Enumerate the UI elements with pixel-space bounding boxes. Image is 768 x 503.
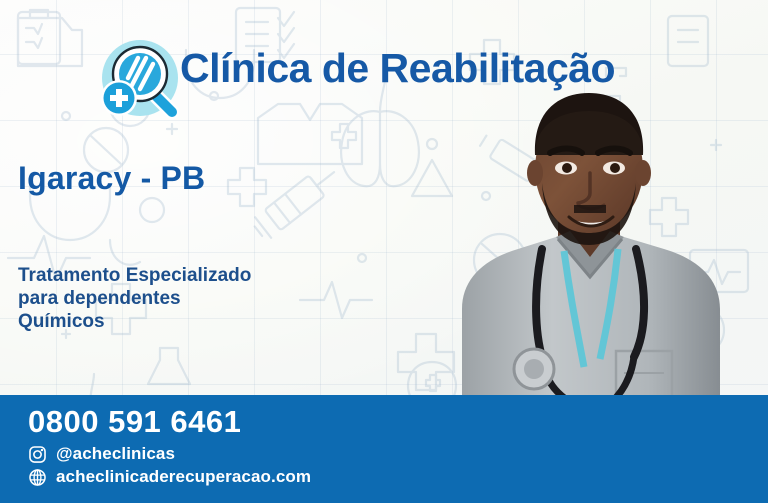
website-row[interactable]: acheclinicaderecuperacao.com: [28, 467, 311, 487]
tagline-line-1: Tratamento Especializado: [18, 264, 251, 287]
website-url: acheclinicaderecuperacao.com: [56, 467, 311, 487]
contact-bar: 0800 591 6461 @acheclinicas acheclinicad…: [0, 395, 768, 503]
instagram-row[interactable]: @acheclinicas: [28, 444, 311, 464]
city-label: Igaracy - PB: [18, 160, 205, 197]
tagline: Tratamento Especializado para dependente…: [18, 264, 251, 333]
medical-cross-icon: [101, 80, 137, 116]
globe-icon: [28, 468, 47, 487]
tagline-line-2: para dependentes: [18, 287, 251, 310]
instagram-handle: @acheclinicas: [56, 444, 175, 464]
phone-number[interactable]: 0800 591 6461: [28, 403, 311, 441]
tagline-line-3: Químicos: [18, 310, 251, 333]
clinic-logo: [90, 32, 186, 128]
instagram-icon: [28, 445, 47, 464]
clinic-banner: Clínica de Reabilitação Igaracy - PB Tra…: [0, 0, 768, 503]
